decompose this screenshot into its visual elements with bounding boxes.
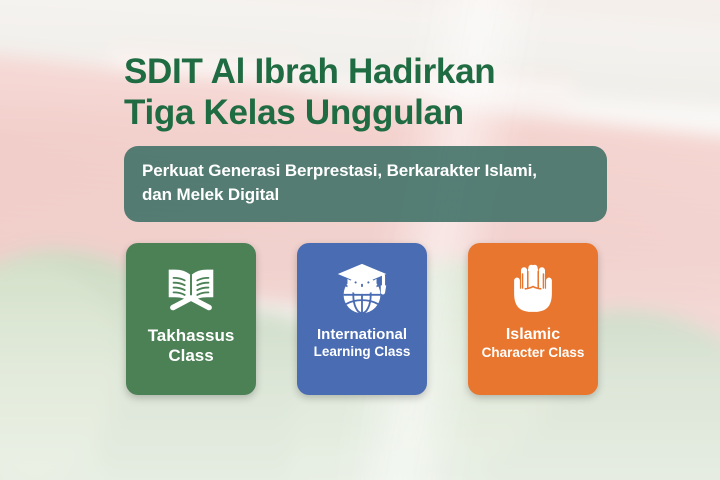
headline-line-2: Tiga Kelas Unggulan: [124, 93, 644, 134]
open-quran-icon: [160, 258, 222, 320]
card-label-line-1: Takhassus: [148, 326, 235, 345]
card-label-international: International Learning Class: [308, 326, 417, 360]
card-takhassus-class[interactable]: Takhassus Class: [126, 243, 256, 395]
card-label-takhassus: Takhassus Class: [142, 326, 241, 366]
card-international-learning-class[interactable]: International Learning Class: [297, 243, 427, 395]
card-label-line-1: Islamic: [506, 326, 560, 343]
headline-line-1: SDIT Al Ibrah Hadirkan: [124, 52, 495, 91]
class-card-group: Takhassus Class: [126, 243, 597, 395]
card-label-line-2: Class: [168, 346, 213, 365]
subtitle-banner: Perkuat Generasi Berprestasi, Berkarakte…: [124, 146, 607, 222]
card-label-line-2: Character Class: [482, 345, 585, 361]
card-label-line-1: International: [317, 326, 407, 343]
poster-content: SDIT Al Ibrah Hadirkan Tiga Kelas Unggul…: [0, 0, 720, 480]
poster-canvas: SDIT Al Ibrah Hadirkan Tiga Kelas Unggul…: [0, 0, 720, 480]
card-label-islamic: Islamic Character Class: [476, 326, 591, 361]
subtitle-line-2: dan Melek Digital: [142, 183, 589, 207]
subtitle-line-1: Perkuat Generasi Berprestasi, Berkarakte…: [142, 159, 589, 183]
praying-hands-icon: [502, 258, 564, 320]
page-title: SDIT Al Ibrah Hadirkan Tiga Kelas Unggul…: [124, 52, 644, 134]
graduation-globe-icon: [331, 258, 393, 320]
card-islamic-character-class[interactable]: Islamic Character Class: [468, 243, 598, 395]
card-label-line-2: Learning Class: [314, 344, 411, 360]
